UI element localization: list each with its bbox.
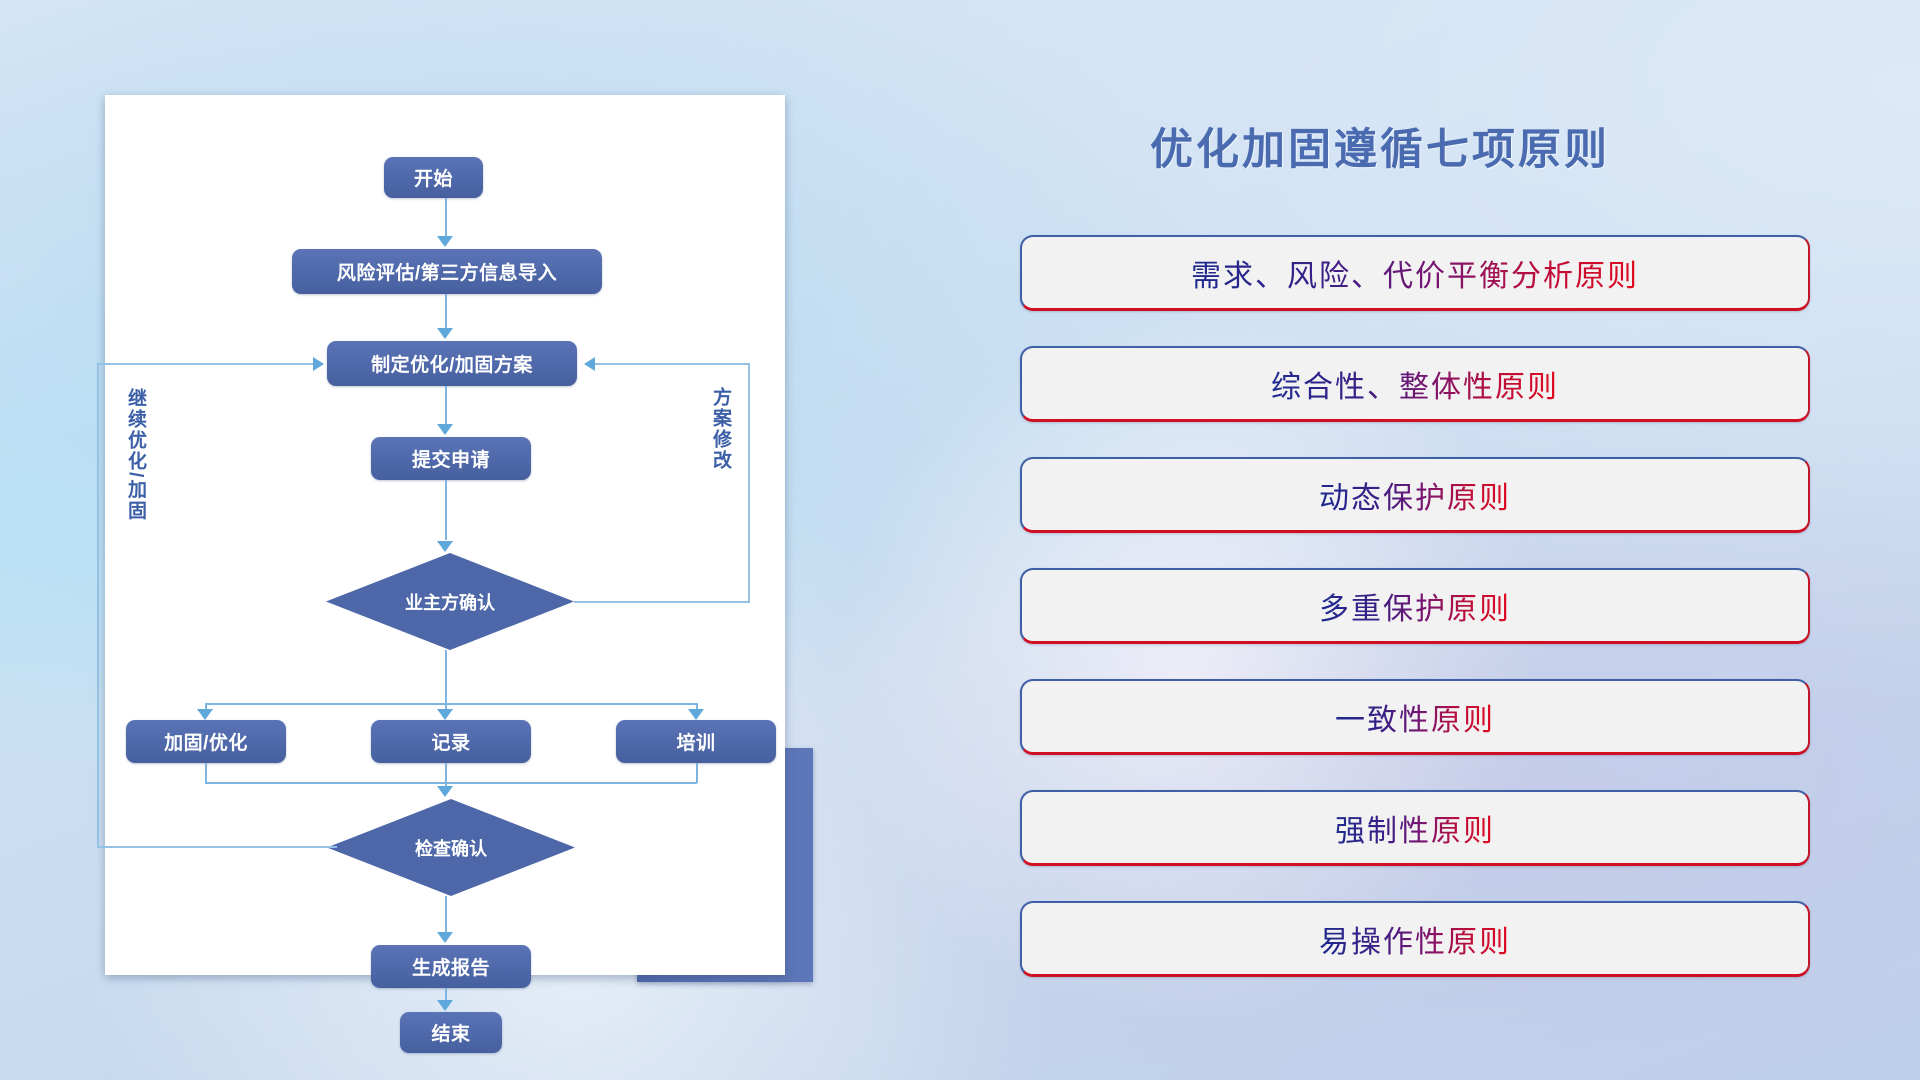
edge-start-to-risk bbox=[445, 198, 447, 238]
flow-node-owner-confirm[interactable]: 业主方确认 bbox=[326, 553, 574, 650]
principle-label: 易操作性原则 bbox=[1319, 917, 1511, 961]
flow-node-label: 加固/优化 bbox=[164, 728, 248, 755]
edge-left-loop-vertical bbox=[97, 363, 99, 848]
flow-node-reinforce-optimize[interactable]: 加固/优化 bbox=[126, 720, 286, 763]
principle-label: 需求、风险、代价平衡分析原则 bbox=[1191, 251, 1639, 295]
flow-node-training[interactable]: 培训 bbox=[616, 720, 776, 763]
edge-merge-bar bbox=[205, 782, 697, 784]
principle-label: 多重保护原则 bbox=[1319, 584, 1511, 628]
principle-label: 强制性原则 bbox=[1335, 806, 1495, 850]
flow-node-start[interactable]: 开始 bbox=[384, 157, 483, 198]
flow-node-record[interactable]: 记录 bbox=[371, 720, 531, 763]
principle-item-5[interactable]: 一致性原则 bbox=[1020, 679, 1810, 755]
arrowhead-left bbox=[584, 357, 595, 371]
arrowhead-down bbox=[437, 424, 453, 435]
flow-node-label: 结束 bbox=[431, 1019, 470, 1046]
edge-right-up bbox=[748, 363, 750, 603]
arrowhead-right bbox=[313, 357, 324, 371]
arrowhead-down bbox=[437, 236, 453, 247]
principle-item-4[interactable]: 多重保护原则 bbox=[1020, 568, 1810, 644]
flow-node-label: 记录 bbox=[431, 728, 470, 755]
arrowhead-down bbox=[437, 932, 453, 943]
edge-right-to-plan bbox=[595, 363, 750, 365]
flow-node-make-plan[interactable]: 制定优化/加固方案 bbox=[327, 341, 577, 386]
flow-node-label: 提交申请 bbox=[412, 445, 490, 472]
arrowhead-down bbox=[437, 1000, 453, 1011]
flow-node-check-confirm[interactable]: 检查确认 bbox=[327, 799, 575, 896]
edge-risk-to-plan bbox=[445, 294, 447, 328]
principle-item-1[interactable]: 需求、风险、代价平衡分析原则 bbox=[1020, 235, 1810, 311]
arrowhead-down bbox=[437, 541, 453, 552]
edge-check-to-left bbox=[97, 846, 337, 848]
panel-title: 优化加固遵循七项原则 bbox=[1150, 115, 1610, 177]
flow-node-submit-application[interactable]: 提交申请 bbox=[371, 437, 531, 480]
edge-submit-to-owner bbox=[445, 480, 447, 540]
edge-owner-right bbox=[574, 601, 750, 603]
flow-node-label: 培训 bbox=[676, 728, 715, 755]
arrowhead-down bbox=[688, 709, 704, 720]
edge-distribution-bar bbox=[205, 703, 697, 705]
principle-item-7[interactable]: 易操作性原则 bbox=[1020, 901, 1810, 977]
edge-label-plan-revision: 方案修改 bbox=[710, 387, 730, 471]
arrowhead-down bbox=[437, 709, 453, 720]
edge-label-continue-optimize: 继续优化/加固 bbox=[125, 388, 145, 521]
edge-owner-down bbox=[445, 650, 447, 705]
principle-label: 综合性、整体性原则 bbox=[1271, 362, 1559, 406]
principle-label: 一致性原则 bbox=[1335, 695, 1495, 739]
edge-record-down bbox=[445, 763, 447, 788]
edge-reinforce-down bbox=[205, 763, 207, 783]
flow-node-label: 开始 bbox=[414, 164, 453, 191]
arrowhead-down bbox=[437, 328, 453, 339]
edge-check-to-report bbox=[445, 896, 447, 932]
flow-node-label: 业主方确认 bbox=[405, 589, 495, 615]
arrowhead-down bbox=[437, 786, 453, 797]
principle-label: 动态保护原则 bbox=[1319, 473, 1511, 517]
principle-item-3[interactable]: 动态保护原则 bbox=[1020, 457, 1810, 533]
flowchart: 开始 风险评估/第三方信息导入 制定优化/加固方案 提交申请 业主方确认 加固/… bbox=[105, 95, 785, 975]
flow-node-risk-assessment[interactable]: 风险评估/第三方信息导入 bbox=[292, 249, 602, 294]
principle-item-6[interactable]: 强制性原则 bbox=[1020, 790, 1810, 866]
flow-node-label: 检查确认 bbox=[415, 835, 487, 861]
flow-node-label: 风险评估/第三方信息导入 bbox=[337, 258, 557, 285]
principle-item-2[interactable]: 综合性、整体性原则 bbox=[1020, 346, 1810, 422]
flow-node-end[interactable]: 结束 bbox=[400, 1012, 502, 1053]
edge-training-down bbox=[696, 763, 698, 783]
principles-panel: 优化加固遵循七项原则 需求、风险、代价平衡分析原则 综合性、整体性原则 动态保护… bbox=[1020, 100, 1860, 1000]
edge-plan-to-submit bbox=[445, 386, 447, 424]
flow-node-label: 生成报告 bbox=[412, 953, 490, 980]
edge-left-to-plan bbox=[97, 363, 315, 365]
flow-node-generate-report[interactable]: 生成报告 bbox=[371, 945, 531, 988]
arrowhead-down bbox=[197, 709, 213, 720]
flow-node-label: 制定优化/加固方案 bbox=[371, 350, 533, 377]
